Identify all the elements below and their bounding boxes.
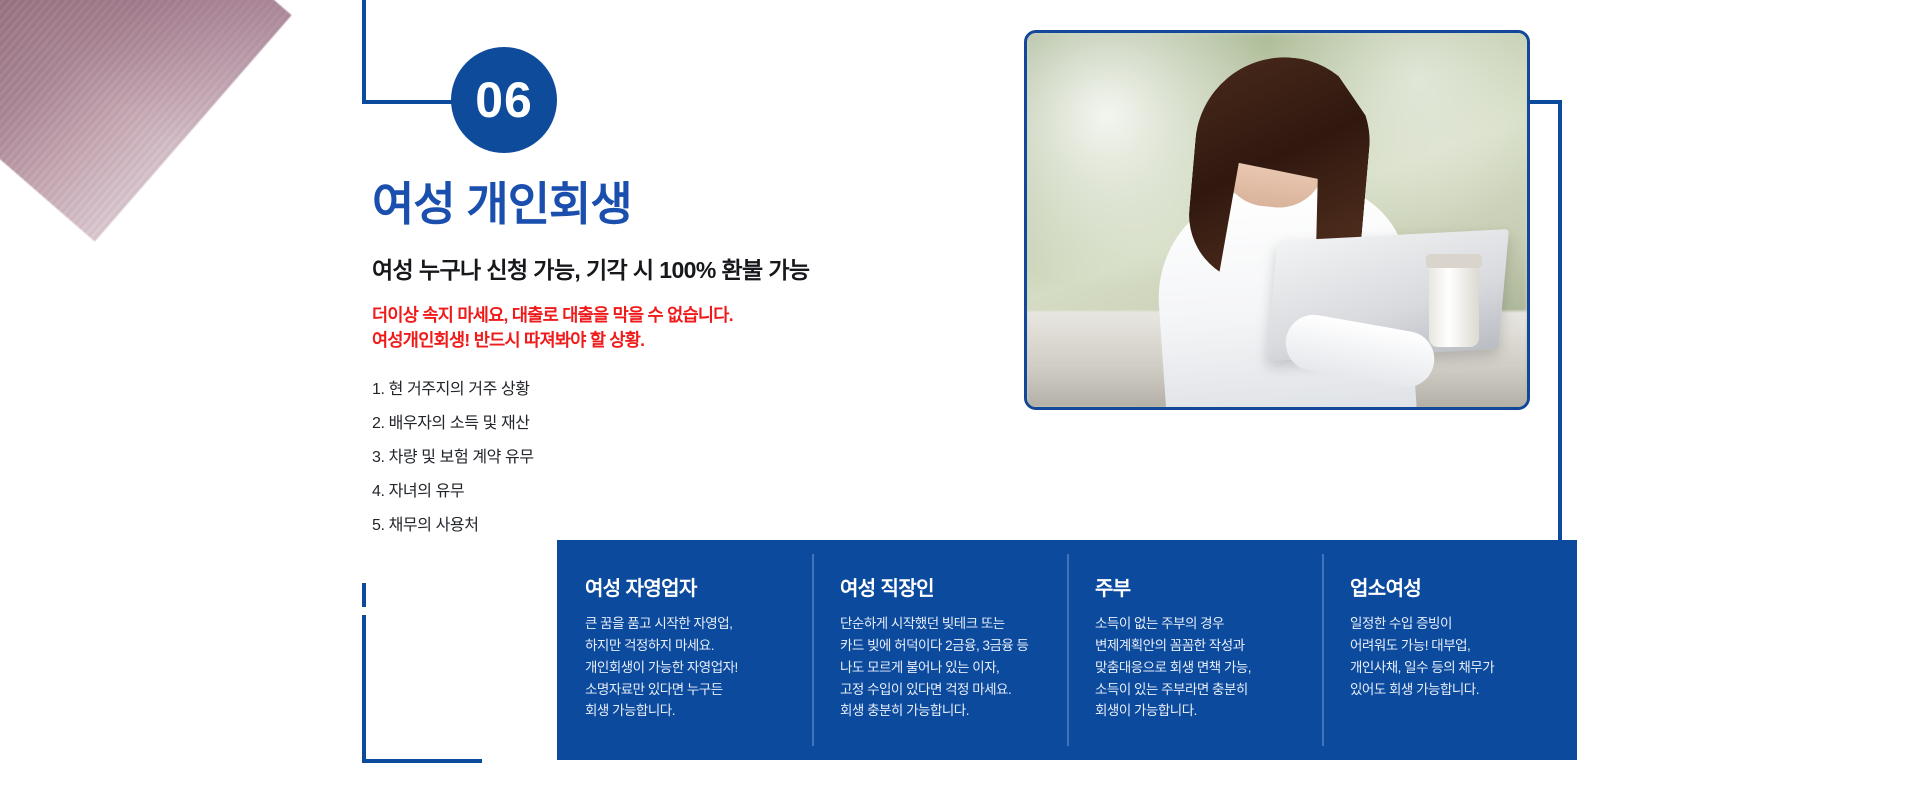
section-number: 06 xyxy=(475,75,533,125)
card-body: 일정한 수입 증빙이 어려워도 가능! 대부업, 개인사채, 일수 등의 채무가… xyxy=(1350,613,1555,700)
card-entertainment-worker: 업소여성 일정한 수입 증빙이 어려워도 가능! 대부업, 개인사채, 일수 등… xyxy=(1322,540,1577,760)
alert-text: 더이상 속지 마세요, 대출로 대출을 막을 수 없습니다. 여성개인회생! 반… xyxy=(372,303,1012,354)
photo-coffee-cup xyxy=(1429,261,1479,347)
section-number-badge: 06 xyxy=(451,47,557,153)
card-female-office-worker: 여성 직장인 단순하게 시작했던 빚테크 또는 카드 빚에 허덕이다 2금융, … xyxy=(812,540,1067,760)
card-title: 주부 xyxy=(1095,572,1300,601)
card-body: 단순하게 시작했던 빚테크 또는 카드 빚에 허덕이다 2금융, 3금융 등 나… xyxy=(840,613,1045,722)
page-title: 여성 개인회생 xyxy=(372,178,1012,231)
frame-line-bottom-left-vertical xyxy=(362,615,366,763)
section-subheading: 여성 누구나 신청 가능, 기각 시 100% 환불 가능 xyxy=(372,251,1012,285)
card-body: 큰 꿈을 품고 시작한 자영업, 하지만 걱정하지 마세요. 개인회생이 가능한… xyxy=(585,613,790,722)
frame-line-right-vertical xyxy=(1558,100,1562,540)
card-title: 업소여성 xyxy=(1350,572,1555,601)
checklist: 1. 현 거주지의 거주 상황 2. 배우자의 소득 및 재산 3. 차량 및 … xyxy=(372,380,1012,536)
list-item: 1. 현 거주지의 거주 상황 xyxy=(372,380,1012,400)
card-title: 여성 자영업자 xyxy=(585,572,790,601)
corner-decoration xyxy=(0,0,292,242)
alert-text-line2: 여성개인회생! 반드시 따져봐야 할 상황. xyxy=(372,330,644,350)
list-item: 4. 자녀의 유무 xyxy=(372,482,1012,502)
section-root: 06 여성 개인회생 여성 누구나 신청 가능, 기각 시 100% 환불 가능… xyxy=(0,0,1920,807)
card-female-self-employed: 여성 자영업자 큰 꿈을 품고 시작한 자영업, 하지만 걱정하지 마세요. 개… xyxy=(557,540,812,760)
frame-line-left-tick xyxy=(362,583,366,607)
card-body: 소득이 없는 주부의 경우 변제계획안의 꼼꼼한 작성과 맞춤대응으로 회생 면… xyxy=(1095,613,1300,722)
hero-photo xyxy=(1024,30,1530,410)
card-housewife: 주부 소득이 없는 주부의 경우 변제계획안의 꼼꼼한 작성과 맞춤대응으로 회… xyxy=(1067,540,1322,760)
list-item: 3. 차량 및 보험 계약 유무 xyxy=(372,448,1012,468)
card-title: 여성 직장인 xyxy=(840,572,1045,601)
left-content-column: 여성 개인회생 여성 누구나 신청 가능, 기각 시 100% 환불 가능 더이… xyxy=(372,178,1012,550)
frame-line-top-left-vertical xyxy=(362,0,366,104)
audience-cards-panel: 여성 자영업자 큰 꿈을 품고 시작한 자영업, 하지만 걱정하지 마세요. 개… xyxy=(557,540,1577,760)
list-item: 2. 배우자의 소득 및 재산 xyxy=(372,414,1012,434)
frame-line-bottom-left-horizontal xyxy=(362,759,482,763)
list-item: 5. 채무의 사용처 xyxy=(372,516,1012,536)
alert-text-line1: 더이상 속지 마세요, 대출로 대출을 막을 수 없습니다. xyxy=(372,305,733,325)
